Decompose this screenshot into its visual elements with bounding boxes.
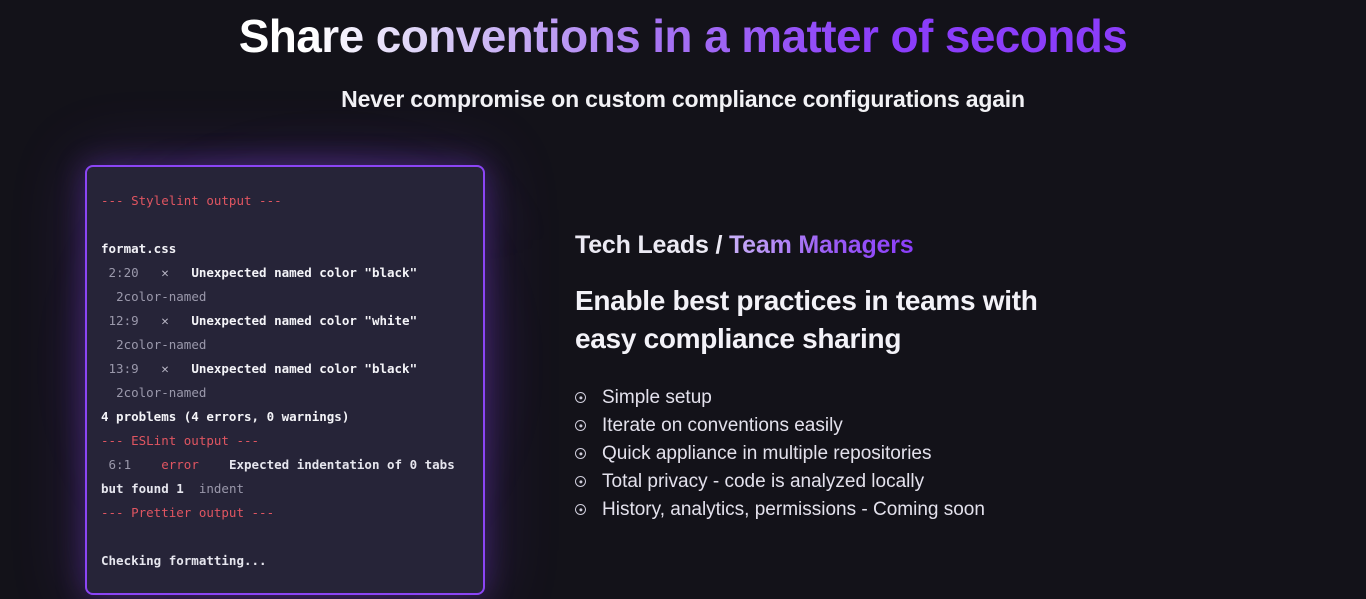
list-item: Total privacy - code is analyzed locally [575, 468, 1246, 496]
eslint-problem-rule: indent [199, 481, 244, 496]
list-item: Quick appliance in multiple repositories [575, 440, 1246, 468]
eyebrow-primary: Tech Leads [575, 231, 709, 259]
terminal-column: --- Stylelint output --- format.css 2:20… [0, 165, 575, 595]
circle-dot-icon [575, 448, 586, 459]
problems-summary: 4 problems (4 errors, 0 warnings) [101, 409, 349, 424]
feature-label: Quick appliance in multiple repositories [602, 440, 932, 468]
terminal-spacer [101, 525, 469, 549]
problem-message: Unexpected named color "black" [191, 265, 417, 280]
problem-rule: 2color-named [116, 337, 206, 352]
circle-dot-icon [575, 420, 586, 431]
terminal-file-line: format.css [101, 237, 469, 261]
terminal-spacer [101, 213, 469, 237]
prettier-header-line: --- Prettier output --- [101, 501, 469, 525]
eslint-problem-message: Expected indentation of 0 tabs but found… [101, 457, 455, 496]
feature-label: Simple setup [602, 384, 712, 412]
eslint-problem-row: 6:1 error Expected indentation of 0 tabs… [101, 453, 469, 501]
terminal-file-name: format.css [101, 241, 176, 256]
hero-section: Share conventions in a matter of seconds… [0, 0, 1366, 113]
error-mark-icon: ✕ [161, 313, 169, 328]
stylelint-header-line: --- Stylelint output --- [101, 189, 469, 213]
problem-message: Unexpected named color "white" [191, 313, 417, 328]
problem-message: Unexpected named color "black" [191, 361, 417, 376]
problem-rule: 2color-named [116, 385, 206, 400]
feature-label: History, analytics, permissions - Coming… [602, 496, 985, 524]
list-item: History, analytics, permissions - Coming… [575, 496, 1246, 524]
prettier-status-line: Checking formatting... [101, 549, 469, 573]
problem-position: 2:20 [109, 265, 139, 280]
terminal-summary-line: 4 problems (4 errors, 0 warnings) [101, 405, 469, 429]
feature-column: Tech Leads / Team Managers Enable best p… [575, 165, 1366, 524]
terminal-problem-row: 2:20 ✕ Unexpected named color "black" 2c… [101, 261, 469, 309]
list-item: Simple setup [575, 384, 1246, 412]
circle-dot-icon [575, 392, 586, 403]
feature-list: Simple setup Iterate on conventions easi… [575, 384, 1246, 524]
eslint-header-line: --- ESLint output --- [101, 429, 469, 453]
circle-dot-icon [575, 504, 586, 515]
prettier-status: Checking formatting... [101, 553, 267, 568]
terminal-output: --- Stylelint output --- format.css 2:20… [101, 189, 469, 573]
page-title: Share conventions in a matter of seconds [239, 8, 1128, 64]
page-subtitle: Never compromise on custom compliance co… [0, 86, 1366, 113]
error-mark-icon: ✕ [161, 265, 169, 280]
audience-eyebrow: Tech Leads / Team Managers [575, 231, 1246, 260]
eslint-header: --- ESLint output --- [101, 433, 259, 448]
eyebrow-secondary: Team Managers [729, 231, 914, 259]
terminal-problem-row: 12:9 ✕ Unexpected named color "white" 2c… [101, 309, 469, 357]
feature-label: Iterate on conventions easily [602, 412, 843, 440]
eslint-problem-position: 6:1 [109, 457, 132, 472]
feature-label: Total privacy - code is analyzed locally [602, 468, 924, 496]
section-headline: Enable best practices in teams with easy… [575, 282, 1045, 358]
error-mark-icon: ✕ [161, 361, 169, 376]
problem-rule: 2color-named [116, 289, 206, 304]
eyebrow-separator: / [715, 231, 722, 259]
list-item: Iterate on conventions easily [575, 412, 1246, 440]
prettier-header: --- Prettier output --- [101, 505, 274, 520]
stylelint-header: --- Stylelint output --- [101, 193, 282, 208]
terminal-panel: --- Stylelint output --- format.css 2:20… [85, 165, 485, 595]
problem-position: 13:9 [109, 361, 139, 376]
eslint-severity: error [161, 457, 199, 472]
circle-dot-icon [575, 476, 586, 487]
problem-position: 12:9 [109, 313, 139, 328]
content-columns: --- Stylelint output --- format.css 2:20… [0, 165, 1366, 595]
terminal-problem-row: 13:9 ✕ Unexpected named color "black" 2c… [101, 357, 469, 405]
